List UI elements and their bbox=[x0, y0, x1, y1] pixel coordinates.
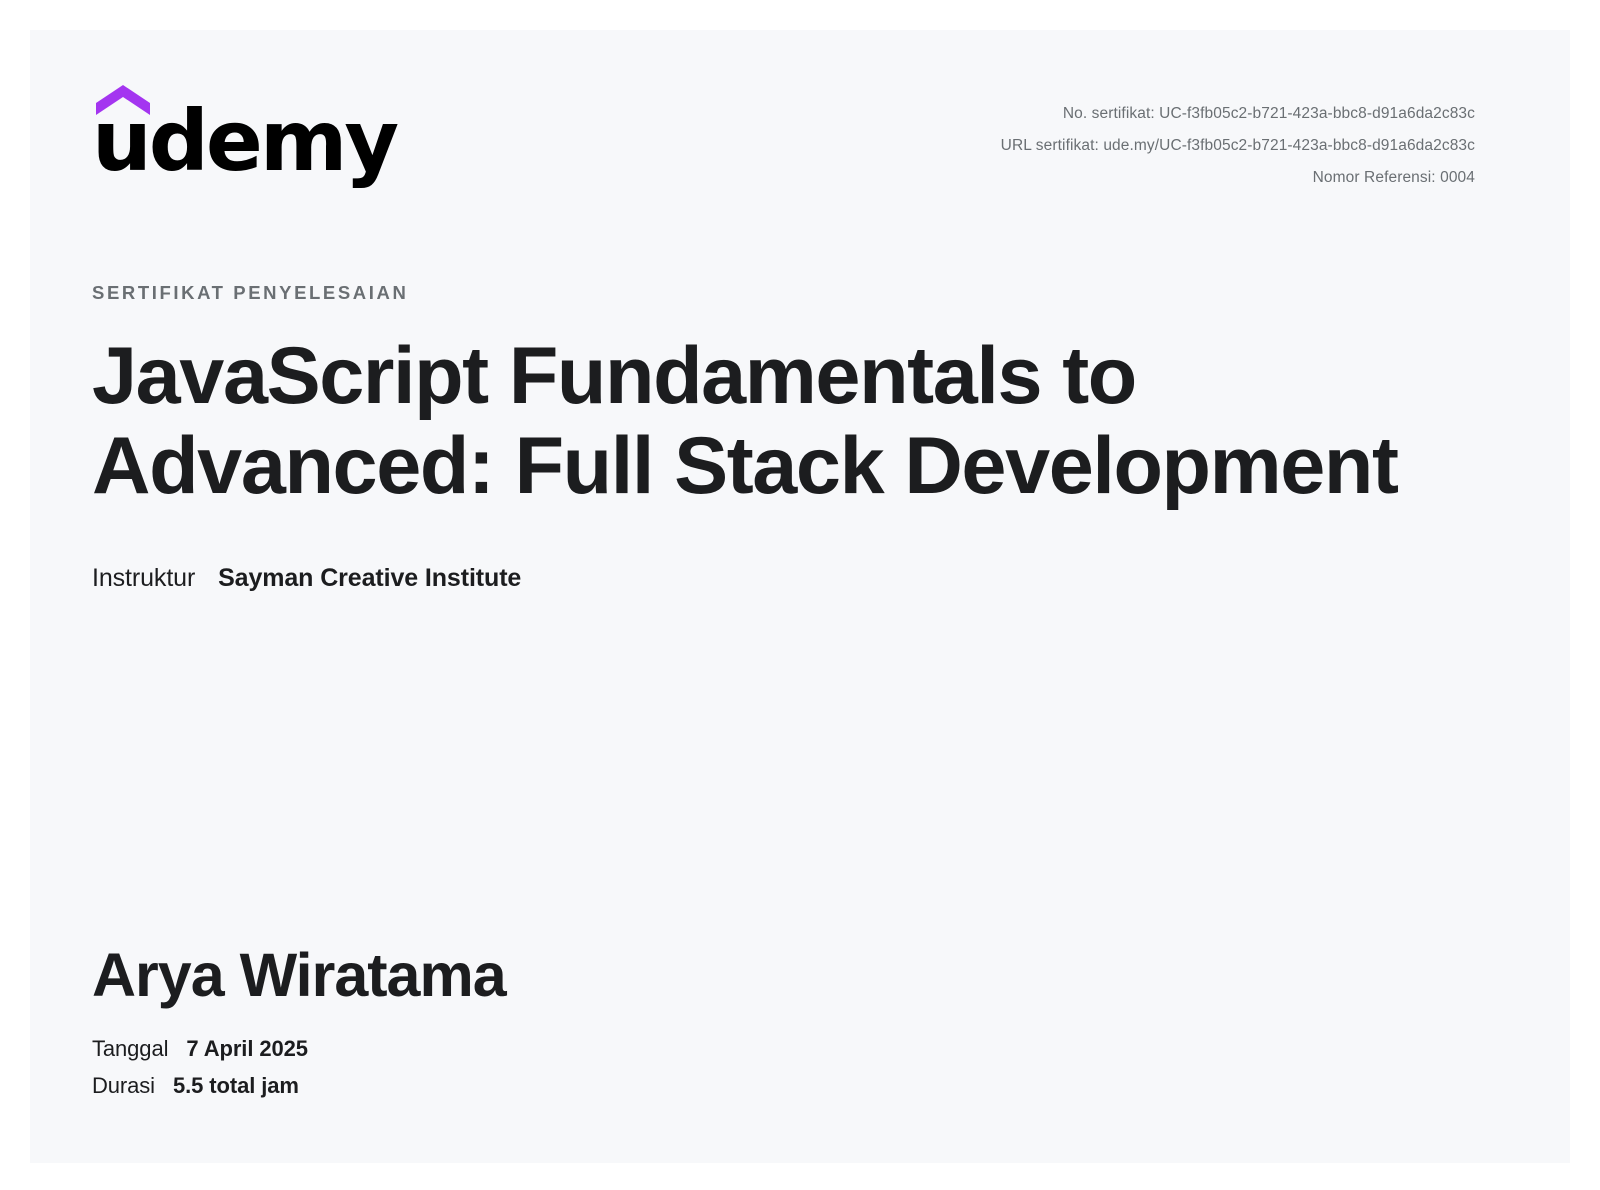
certificate-header: udemy No. sertifikat: UC-f3fb05c2-b721-4… bbox=[30, 30, 1570, 180]
instructor-name: Sayman Creative Institute bbox=[218, 564, 521, 592]
certificate-body: SERTIFIKAT PENYELESAIAN JavaScript Funda… bbox=[92, 282, 1508, 593]
recipient-block: Arya Wiratama Tanggal 7 April 2025 Duras… bbox=[92, 942, 1508, 1105]
course-title: JavaScript Fundamentals to Advanced: Ful… bbox=[92, 332, 1452, 512]
duration-value: 5.5 total jam bbox=[173, 1073, 299, 1098]
recipient-name: Arya Wiratama bbox=[92, 942, 1508, 1009]
duration-row: Durasi 5.5 total jam bbox=[92, 1068, 1508, 1105]
certificate-card: udemy No. sertifikat: UC-f3fb05c2-b721-4… bbox=[30, 30, 1570, 1163]
duration-label: Durasi bbox=[92, 1073, 155, 1098]
certificate-metadata: No. sertifikat: UC-f3fb05c2-b721-423a-bb… bbox=[1001, 98, 1475, 193]
udemy-logo: udemy bbox=[92, 85, 352, 180]
reference-number: Nomor Referensi: 0004 bbox=[1001, 162, 1475, 194]
date-value: 7 April 2025 bbox=[186, 1036, 308, 1061]
certificate-number: No. sertifikat: UC-f3fb05c2-b721-423a-bb… bbox=[1001, 98, 1475, 130]
date-row: Tanggal 7 April 2025 bbox=[92, 1031, 1508, 1068]
certificate-eyebrow: SERTIFIKAT PENYELESAIAN bbox=[92, 282, 1508, 304]
date-label: Tanggal bbox=[92, 1036, 168, 1061]
udemy-wordmark: udemy bbox=[92, 99, 396, 183]
certificate-url: URL sertifikat: ude.my/UC-f3fb05c2-b721-… bbox=[1001, 130, 1475, 162]
instructor-label: Instruktur bbox=[92, 564, 195, 592]
instructor-row: Instruktur Sayman Creative Institute bbox=[92, 564, 1508, 593]
